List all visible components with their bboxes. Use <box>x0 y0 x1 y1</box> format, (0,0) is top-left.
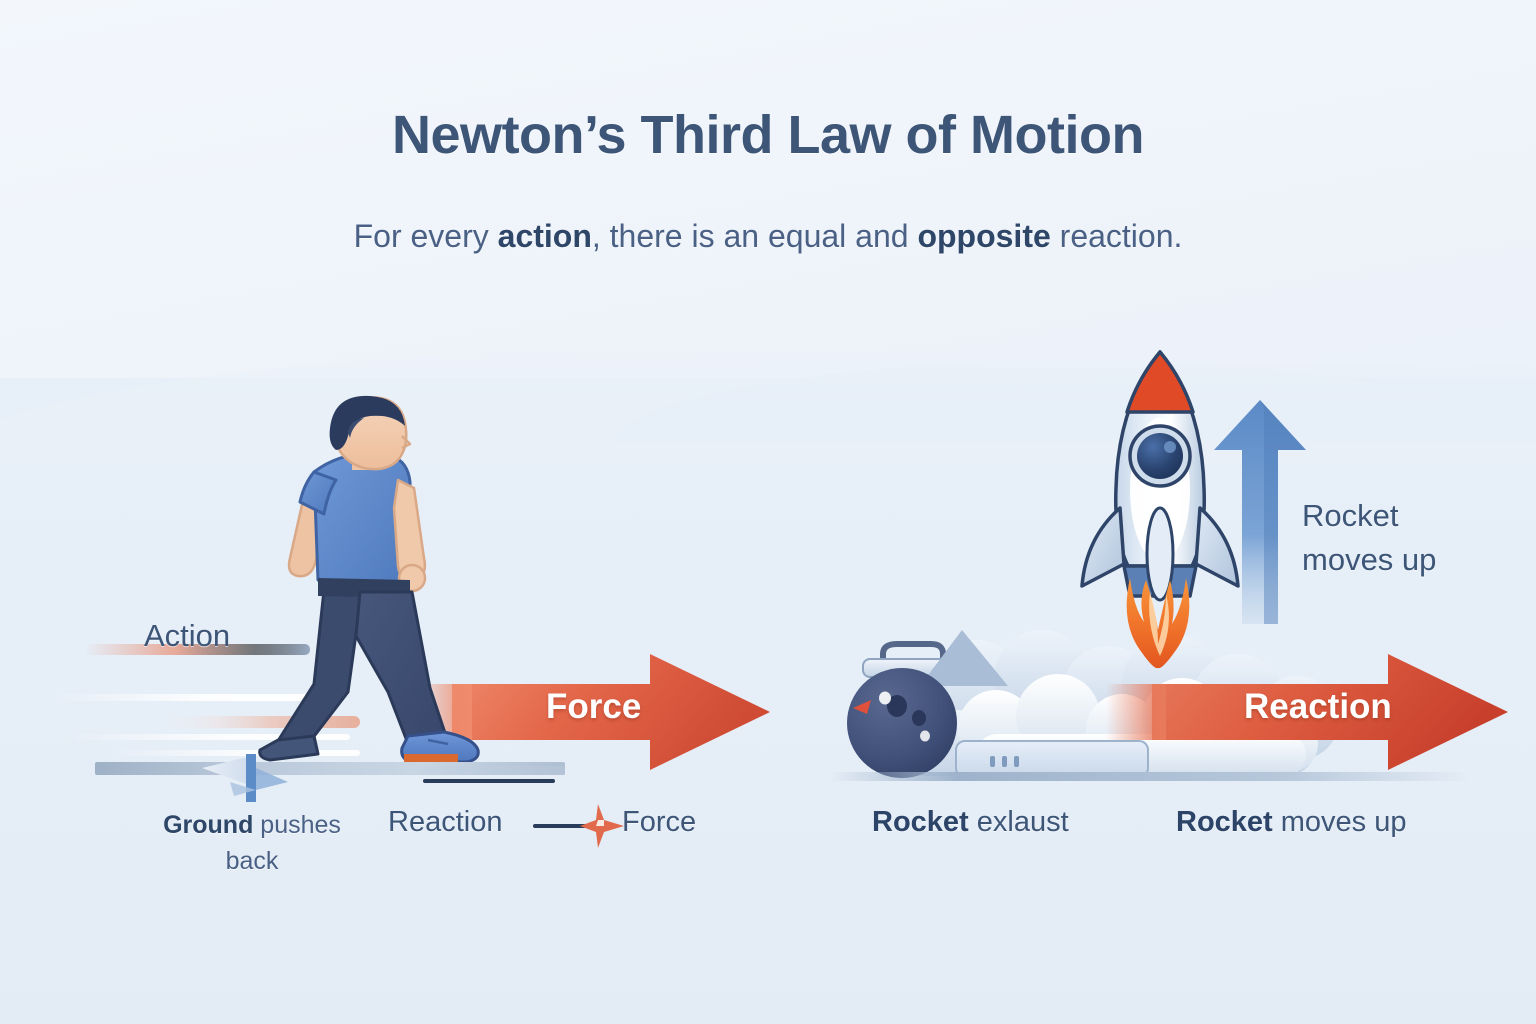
ground-surface-bar-right <box>420 766 565 775</box>
subtitle-text-1: For every <box>354 218 498 254</box>
ground-pushes-back-label: Ground pushes back <box>152 808 352 879</box>
rocket-up-arrow <box>1212 398 1308 628</box>
ground-pushes-back-keyword: Ground <box>163 811 253 839</box>
illustration-canvas: Newton’s Third Law of Motion For every a… <box>0 0 1536 1024</box>
launch-pad-indicator <box>990 756 995 767</box>
force-caption-label: Force <box>622 806 696 839</box>
subtitle-keyword-opposite: opposite <box>917 218 1050 254</box>
bowling-ball <box>845 666 960 781</box>
rocket-moves-up-side-line1: Rocket <box>1302 498 1398 533</box>
rocket-exhaust-label: Rocket exlaust <box>872 806 1069 839</box>
rocket-exhaust-keyword: Rocket <box>872 806 969 838</box>
action-label: Action <box>144 618 230 654</box>
rocket-moves-up-label: Rocket moves up <box>1176 806 1407 839</box>
reaction-force-star-arrow-icon <box>578 802 626 850</box>
walking-person-illustration <box>252 392 552 792</box>
rocket-exhaust-rest: exlaust <box>969 806 1069 838</box>
page-subtitle: For every action, there is an equal and … <box>0 218 1536 255</box>
launch-pad-indicator <box>1002 756 1007 767</box>
page-title: Newton’s Third Law of Motion <box>0 104 1536 166</box>
subtitle-text-3: reaction. <box>1051 218 1183 254</box>
reaction-arrow-label: Reaction <box>1244 687 1392 727</box>
rocket-moves-up-side-line2: moves up <box>1302 542 1436 577</box>
reaction-caption-label: Reaction <box>388 806 502 839</box>
rocket-moves-up-keyword: Rocket <box>1176 806 1273 838</box>
ground-surface-line <box>423 779 555 783</box>
subtitle-text-2: , there is an equal and <box>592 218 918 254</box>
ground-reaction-down-arrow <box>200 752 290 808</box>
force-arrow-label: Force <box>546 687 641 727</box>
launch-pad-indicator <box>1014 756 1019 767</box>
rocket-moves-up-rest: moves up <box>1273 806 1407 838</box>
subtitle-keyword-action: action <box>498 218 592 254</box>
reaction-arrow-right: Reaction <box>1152 648 1512 776</box>
rocket-moves-up-side-label: Rocketmoves up <box>1302 494 1502 583</box>
force-comparison-row: Action Force Equal <box>0 898 1536 970</box>
